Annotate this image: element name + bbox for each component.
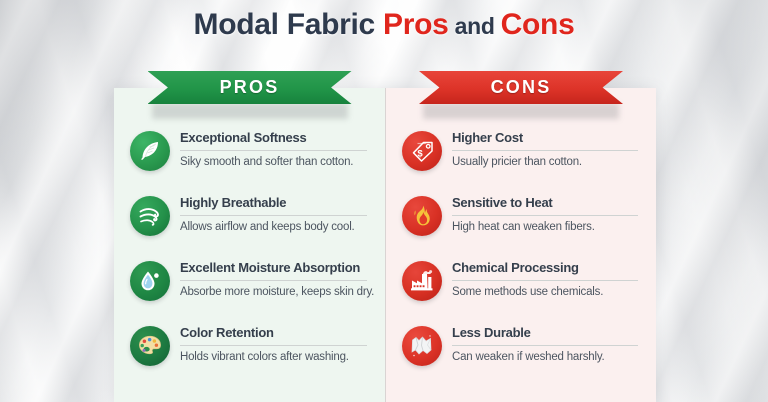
title-accent-cons: Cons: [501, 8, 575, 41]
list-item-description: Allows airflow and keeps body cool.: [180, 221, 367, 233]
list-item-title: Excellent Moisture Absorption: [180, 260, 367, 275]
feather-icon: [130, 131, 170, 171]
page-title: Modal Fabric Pros and Cons: [0, 8, 768, 42]
list-item-description: Usually pricier than cotton.: [452, 156, 638, 168]
cons-banner: CONS: [419, 71, 623, 104]
list-item-text: Highly Breathable Allows airflow and kee…: [180, 194, 367, 233]
list-item[interactable]: Chemical Processing Some methods use che…: [402, 256, 638, 321]
pros-banner-shadow: [152, 103, 348, 119]
list-item-text: Excellent Moisture Absorption Absorbe mo…: [180, 259, 367, 298]
list-item[interactable]: Highly Breathable Allows airflow and kee…: [130, 191, 367, 256]
torn-fabric-icon: [402, 326, 442, 366]
list-item-title: Color Retention: [180, 325, 367, 340]
pros-column: PROS Exceptional Softness Siky smooth an…: [114, 88, 385, 402]
title-conjunction: and: [448, 13, 500, 39]
water-droplet-icon: [130, 261, 170, 301]
list-item[interactable]: Sensitive to Heat High heat can weaken f…: [402, 191, 638, 256]
list-item-description: Some methods use chemicals.: [452, 286, 638, 298]
list-item-title: Highly Breathable: [180, 195, 367, 210]
divider: [452, 215, 638, 216]
list-item-title: Less Durable: [452, 325, 638, 340]
flame-icon: [402, 196, 442, 236]
list-item-description: Absorbe more moisture, keeps skin dry.: [180, 286, 367, 298]
title-accent-pros: Pros: [383, 8, 449, 41]
list-item-text: Color Retention Holds vibrant colors aft…: [180, 324, 367, 363]
list-item-title: Exceptional Softness: [180, 130, 367, 145]
list-item[interactable]: Excellent Moisture Absorption Absorbe mo…: [130, 256, 367, 321]
list-item-text: Less Durable Can weaken if weshed harshl…: [452, 324, 638, 363]
list-item[interactable]: Exceptional Softness Siky smooth and sof…: [130, 126, 367, 191]
divider: [452, 345, 638, 346]
paint-palette-icon: [130, 326, 170, 366]
list-item-text: Sensitive to Heat High heat can weaken f…: [452, 194, 638, 233]
list-item[interactable]: $ Higher Cost Usually pricier than cotto…: [402, 126, 638, 191]
factory-icon: [402, 261, 442, 301]
cons-banner-shadow: [423, 103, 619, 119]
wind-icon: [130, 196, 170, 236]
pros-banner: PROS: [148, 71, 352, 104]
title-part-1: Modal Fabric: [194, 8, 383, 41]
list-item[interactable]: Color Retention Holds vibrant colors aft…: [130, 321, 367, 386]
divider: [180, 215, 367, 216]
divider: [452, 150, 638, 151]
infographic-canvas: Modal Fabric Pros and Cons PROS Exceptio…: [0, 0, 768, 402]
list-item-title: Sensitive to Heat: [452, 195, 638, 210]
svg-text:$: $: [417, 148, 423, 159]
divider: [180, 345, 367, 346]
list-item-description: High heat can weaken fibers.: [452, 221, 638, 233]
list-item[interactable]: Less Durable Can weaken if weshed harshl…: [402, 321, 638, 386]
list-item-text: Exceptional Softness Siky smooth and sof…: [180, 129, 367, 168]
divider: [452, 280, 638, 281]
pros-cons-card: PROS Exceptional Softness Siky smooth an…: [114, 88, 656, 402]
list-item-title: Higher Cost: [452, 130, 638, 145]
list-item-title: Chemical Processing: [452, 260, 638, 275]
price-tag-icon: $: [402, 131, 442, 171]
cons-column: CONS $ Higher Cost Usually pricier than …: [385, 88, 656, 402]
list-item-text: Higher Cost Usually pricier than cotton.: [452, 129, 638, 168]
list-item-description: Siky smooth and softer than cotton.: [180, 156, 367, 168]
divider: [180, 150, 367, 151]
list-item-description: Can weaken if weshed harshly.: [452, 351, 638, 363]
list-item-description: Holds vibrant colors after washing.: [180, 351, 367, 363]
divider: [180, 280, 367, 281]
list-item-text: Chemical Processing Some methods use che…: [452, 259, 638, 298]
